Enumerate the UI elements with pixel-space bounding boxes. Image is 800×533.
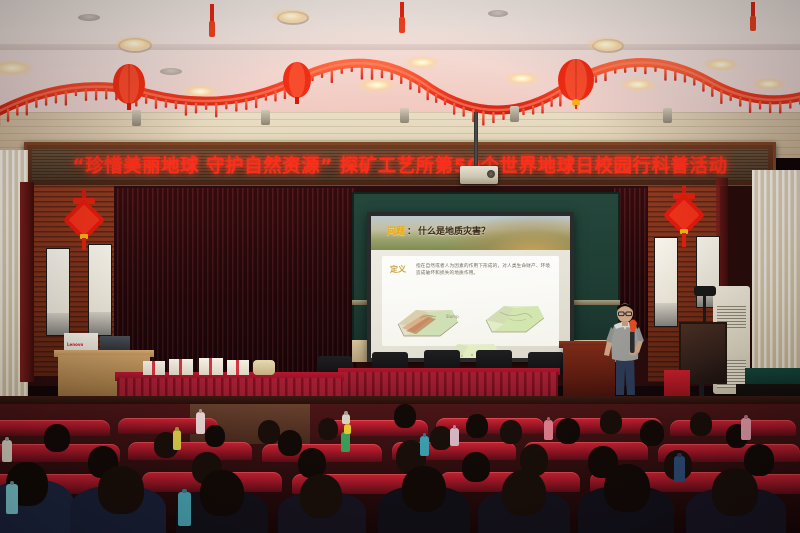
led-banner-screen: “珍惜美丽地球 守护自然资源” 探矿工艺所第50个世界地球日校园行科普活动 (32, 149, 768, 181)
terrain-diagram-right (482, 296, 548, 338)
gift-stack (169, 359, 193, 375)
gift-stack (199, 358, 223, 375)
slide-definition-label: 定义 (390, 264, 406, 275)
audience-member (300, 474, 342, 518)
terrain-caption-slump: Slump (446, 314, 459, 319)
bottle-cap (344, 424, 351, 434)
audience-member (502, 470, 546, 516)
hanging-tassel (395, 2, 409, 34)
audience-member (430, 426, 452, 450)
gift-stack (227, 360, 249, 375)
hanging-tassel (747, 2, 759, 32)
water-bottle (6, 484, 18, 514)
water-bottle (450, 428, 459, 446)
projection-screen-frame: 问题 ： 什么是地质灾害？ 定义 指在自然或者人为因素的作用下形成的，对人类生命… (367, 212, 574, 362)
audience-member (640, 420, 664, 446)
calligraphy-scroll-left-a (46, 248, 70, 336)
audience-member (600, 410, 622, 434)
scroll-ink-wash (89, 312, 111, 335)
audience-member (200, 470, 244, 516)
audience-member (98, 466, 144, 514)
pendant-lamp (132, 110, 141, 126)
ceiling-vent (488, 10, 508, 17)
audience-member (402, 466, 446, 512)
slide-title: 问题 ： 什么是地质灾害？ (387, 224, 490, 237)
audience-member (394, 404, 416, 428)
scroll-text (47, 258, 69, 263)
water-bottle (544, 420, 553, 440)
audience-member (712, 468, 758, 516)
audience-member (278, 430, 302, 456)
projection-screen: 问题 ： 什么是地质灾害？ 定义 指在自然或者人为因素的作用下形成的，对人类生命… (371, 216, 570, 358)
water-bottle (341, 432, 350, 452)
calligraphy-scroll-left-b (88, 244, 112, 336)
audience-member (604, 464, 650, 512)
paper-lantern (282, 60, 312, 104)
audience-member (462, 452, 490, 482)
hanging-tassel (205, 4, 219, 38)
pendant-lamp (400, 108, 409, 123)
auditorium-photo: (function(){ const svg=document.querySel… (0, 0, 800, 533)
chinese-knot-left (58, 190, 110, 250)
slide-title-rest: 什么是地质灾害？ (418, 224, 490, 237)
projector-lens (487, 170, 495, 178)
water-bottle (420, 436, 429, 456)
audience-seat[interactable] (128, 442, 252, 460)
water-bottle (674, 456, 685, 482)
slide-definition-text: 指在自然或者人为因素的作用下形成的，对人类生命财产、环境造成破坏和损失的地质作用… (416, 263, 551, 277)
projector-mount (474, 112, 478, 168)
ceiling-projector (460, 166, 498, 184)
water-bottle (196, 412, 205, 434)
audience-member (318, 418, 338, 440)
presenter (603, 303, 647, 397)
slide-title-highlight: 问题 (387, 224, 405, 237)
slide-title-separator: ： (407, 224, 416, 237)
audience-member (205, 425, 225, 447)
water-bottle (173, 430, 181, 450)
ceiling-spotlight (272, 9, 310, 23)
water-bottle (2, 440, 12, 462)
scroll-ink-wash (655, 303, 677, 326)
calligraphy-scroll-right-a (654, 237, 678, 327)
led-banner-text: “珍惜美丽地球 守护自然资源” 探矿工艺所第50个世界地球日校园行科普活动 (73, 152, 728, 178)
audience-member (556, 418, 580, 444)
window-drape-left (20, 182, 34, 382)
pendant-lamp (663, 108, 672, 123)
scroll-text (655, 247, 677, 252)
audience-member (44, 424, 70, 452)
audience-member (500, 420, 522, 444)
pendant-lamp (261, 110, 270, 125)
scroll-text (89, 254, 111, 259)
led-banner: “珍惜美丽地球 守护自然资源” 探矿工艺所第50个世界地球日校园行科普活动 (24, 142, 776, 188)
bottle-cap (342, 414, 350, 424)
gift-basket (253, 360, 275, 375)
gift-stack (143, 361, 165, 375)
water-bottle (741, 418, 751, 440)
slide-content-box: 定义 指在自然或者人为因素的作用下形成的，对人类生命财产、环境造成破坏和损失的地… (382, 256, 559, 346)
audience-member (690, 412, 712, 436)
stage-curtain-left (112, 188, 356, 374)
pendant-lamp (510, 106, 519, 122)
audience-member (258, 420, 280, 444)
scroll-ink-wash (47, 313, 69, 335)
paper-lantern (557, 57, 595, 109)
box-brand-label: Lenovo (67, 342, 83, 347)
scroll-text (697, 244, 719, 249)
window-sheer-right (752, 170, 800, 370)
ceiling-vent (78, 14, 100, 21)
tripod-pole (703, 294, 706, 322)
water-bottle (178, 492, 191, 526)
paper-lantern (112, 62, 146, 110)
audience-member (466, 414, 488, 438)
